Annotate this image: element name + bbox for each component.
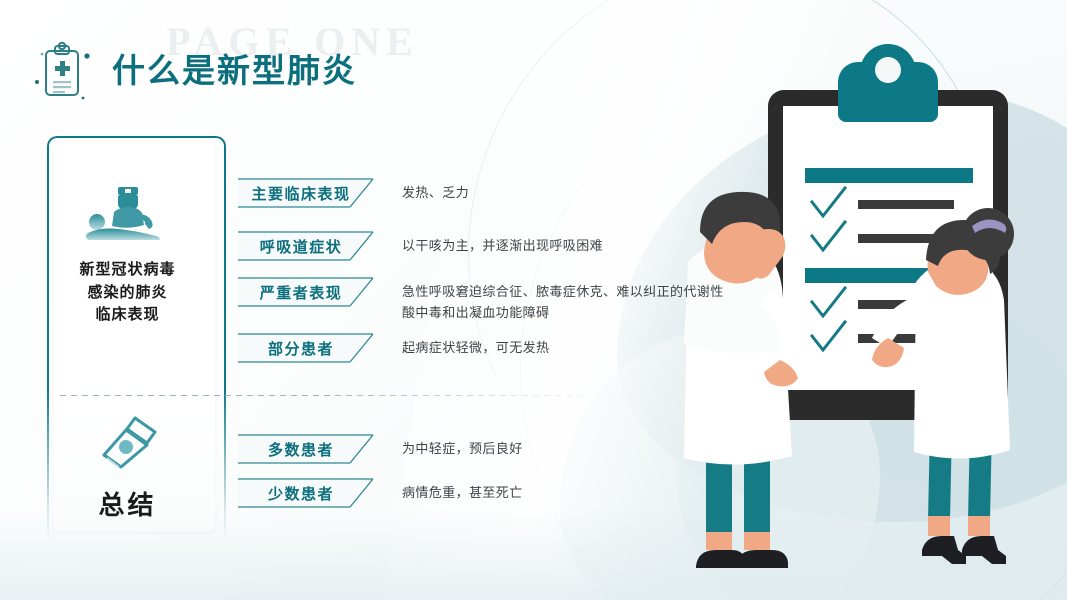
page-title: 什么是新型肺炎 [112,44,357,92]
clipboard-header-bar-1 [805,168,973,183]
card-clinical-line-2: 感染的肺炎 [47,282,208,305]
male-right-ankle [744,532,770,550]
item-tag: 少数患者 [238,478,390,508]
item-label: 呼吸道症状 [238,231,364,261]
item-description: 为中轻症，预后良好 [402,434,523,459]
list-item[interactable]: 呼吸道症状 以干咳为主，并逐渐出现呼吸困难 [238,231,603,261]
fountain-pen-nib-icon [47,412,208,477]
item-label: 部分患者 [238,333,364,363]
card-section-summary: 总结 [47,412,208,522]
card-clinical-title: 新型冠状病毒 感染的肺炎 临床表现 [47,259,208,327]
female-left-heel [922,536,966,564]
list-item[interactable]: 少数患者 病情危重，甚至死亡 [238,478,523,508]
female-hair-bun [962,208,1014,260]
card-clinical-line-3: 临床表现 [47,304,208,327]
male-doctor-figure [684,192,800,568]
item-description: 发热、乏力 [402,178,469,203]
clipboard-line-1 [858,200,954,209]
male-left-ankle [706,532,732,550]
slide-header: PAGE ONE 什么是新型肺炎 [0,0,1067,120]
item-tag: 多数患者 [238,434,390,464]
female-right-heel [962,536,1006,564]
male-right-shoe [736,550,788,568]
summary-card: 新型冠状病毒 感染的肺炎 临床表现 [47,136,222,538]
item-label: 多数患者 [238,434,364,464]
item-description: 病情危重，甚至死亡 [402,478,523,503]
slide-root: PAGE ONE 什么是新型肺炎 [0,0,1067,600]
card-section-clinical: 新型冠状病毒 感染的肺炎 临床表现 [47,184,208,327]
item-tag: 呼吸道症状 [238,231,390,261]
item-label: 严重者表现 [238,277,364,307]
item-tag: 主要临床表现 [238,178,390,208]
item-description: 急性呼吸窘迫综合征、脓毒症休克、难以纠正的代谢性酸中毒和出凝血功能障碍 [402,277,732,324]
doctor-patient-care-icon [47,184,208,251]
list-item[interactable]: 部分患者 起病症状轻微，可无发热 [238,333,549,363]
item-tag: 部分患者 [238,333,390,363]
clipboard-medical-icon [30,40,108,108]
item-description: 以干咳为主，并逐渐出现呼吸困难 [402,231,603,256]
item-description: 起病症状轻微，可无发热 [402,333,549,358]
card-summary-title: 总结 [47,485,208,522]
list-item[interactable]: 严重者表现 急性呼吸窘迫综合征、脓毒症休克、难以纠正的代谢性酸中毒和出凝血功能障… [238,277,732,324]
card-clinical-line-1: 新型冠状病毒 [47,259,208,282]
item-label: 少数患者 [238,478,364,508]
list-item[interactable]: 主要临床表现 发热、乏力 [238,178,469,208]
female-left-ankle [928,516,950,536]
item-label: 主要临床表现 [238,178,364,208]
list-item[interactable]: 多数患者 为中轻症，预后良好 [238,434,523,464]
section-divider [60,395,640,396]
item-tag: 严重者表现 [238,277,390,307]
female-right-ankle [968,516,990,536]
